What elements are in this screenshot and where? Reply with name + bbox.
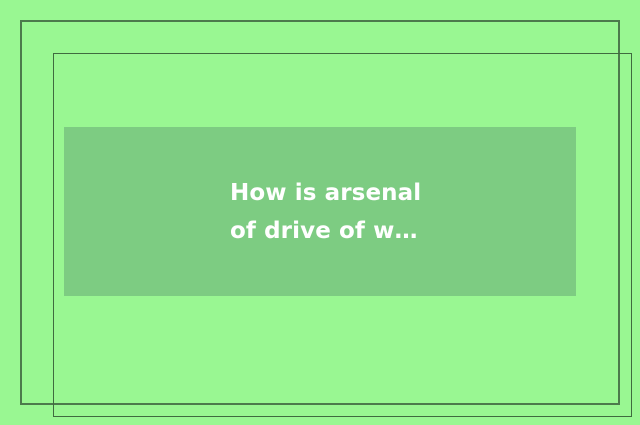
headline-line-1: How is arsenal [230,174,421,212]
headline-line-2: of drive of w… [230,212,418,250]
headline-banner: How is arsenal of drive of w… [64,127,576,296]
